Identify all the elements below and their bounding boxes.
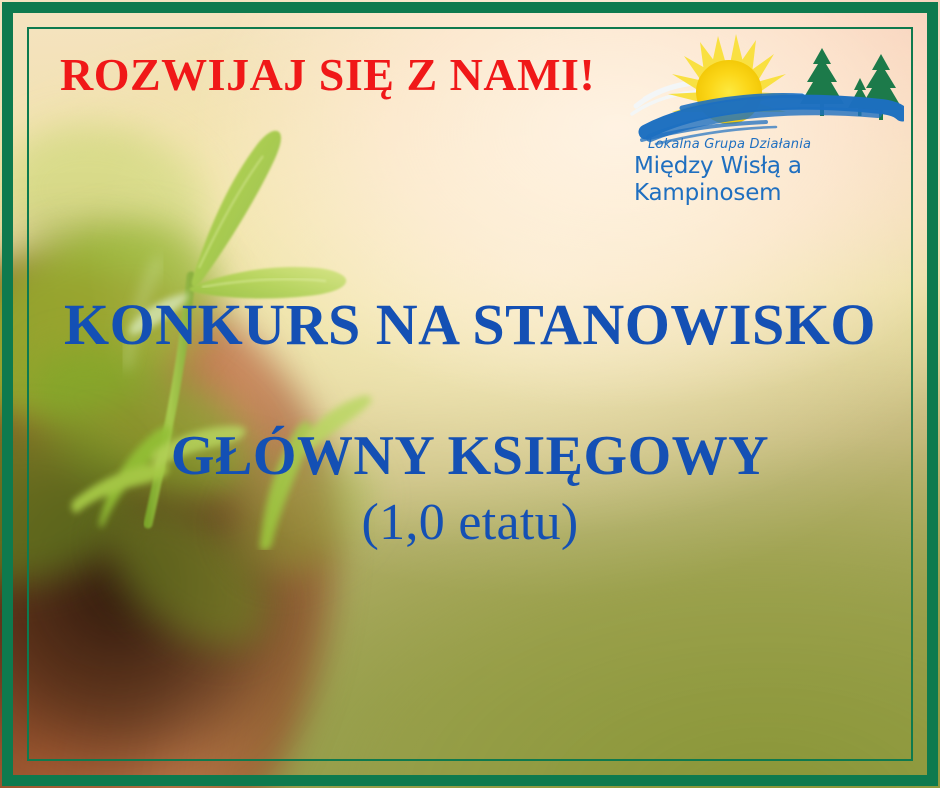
title-fte: (1,0 etatu) xyxy=(0,497,940,549)
title-position: GŁÓWNY KSIĘGOWY xyxy=(0,428,940,484)
title-main: KONKURS NA STANOWISKO xyxy=(0,296,940,354)
headline-text: ROZWIJAJ SIĘ Z NAMI! xyxy=(60,52,595,98)
logo-line-2: Między Wisłą a Kampinosem xyxy=(634,153,904,206)
poster: ROZWIJAJ SIĘ Z NAMI! xyxy=(0,0,940,788)
organization-logo: Lokalna Grupa Działania Między Wisłą a K… xyxy=(626,34,904,184)
logo-artwork xyxy=(626,34,904,146)
logo-wordmark: Lokalna Grupa Działania Między Wisłą a K… xyxy=(634,138,904,206)
poster-content: ROZWIJAJ SIĘ Z NAMI! xyxy=(0,0,940,788)
logo-line-1: Lokalna Grupa Działania xyxy=(648,138,904,152)
